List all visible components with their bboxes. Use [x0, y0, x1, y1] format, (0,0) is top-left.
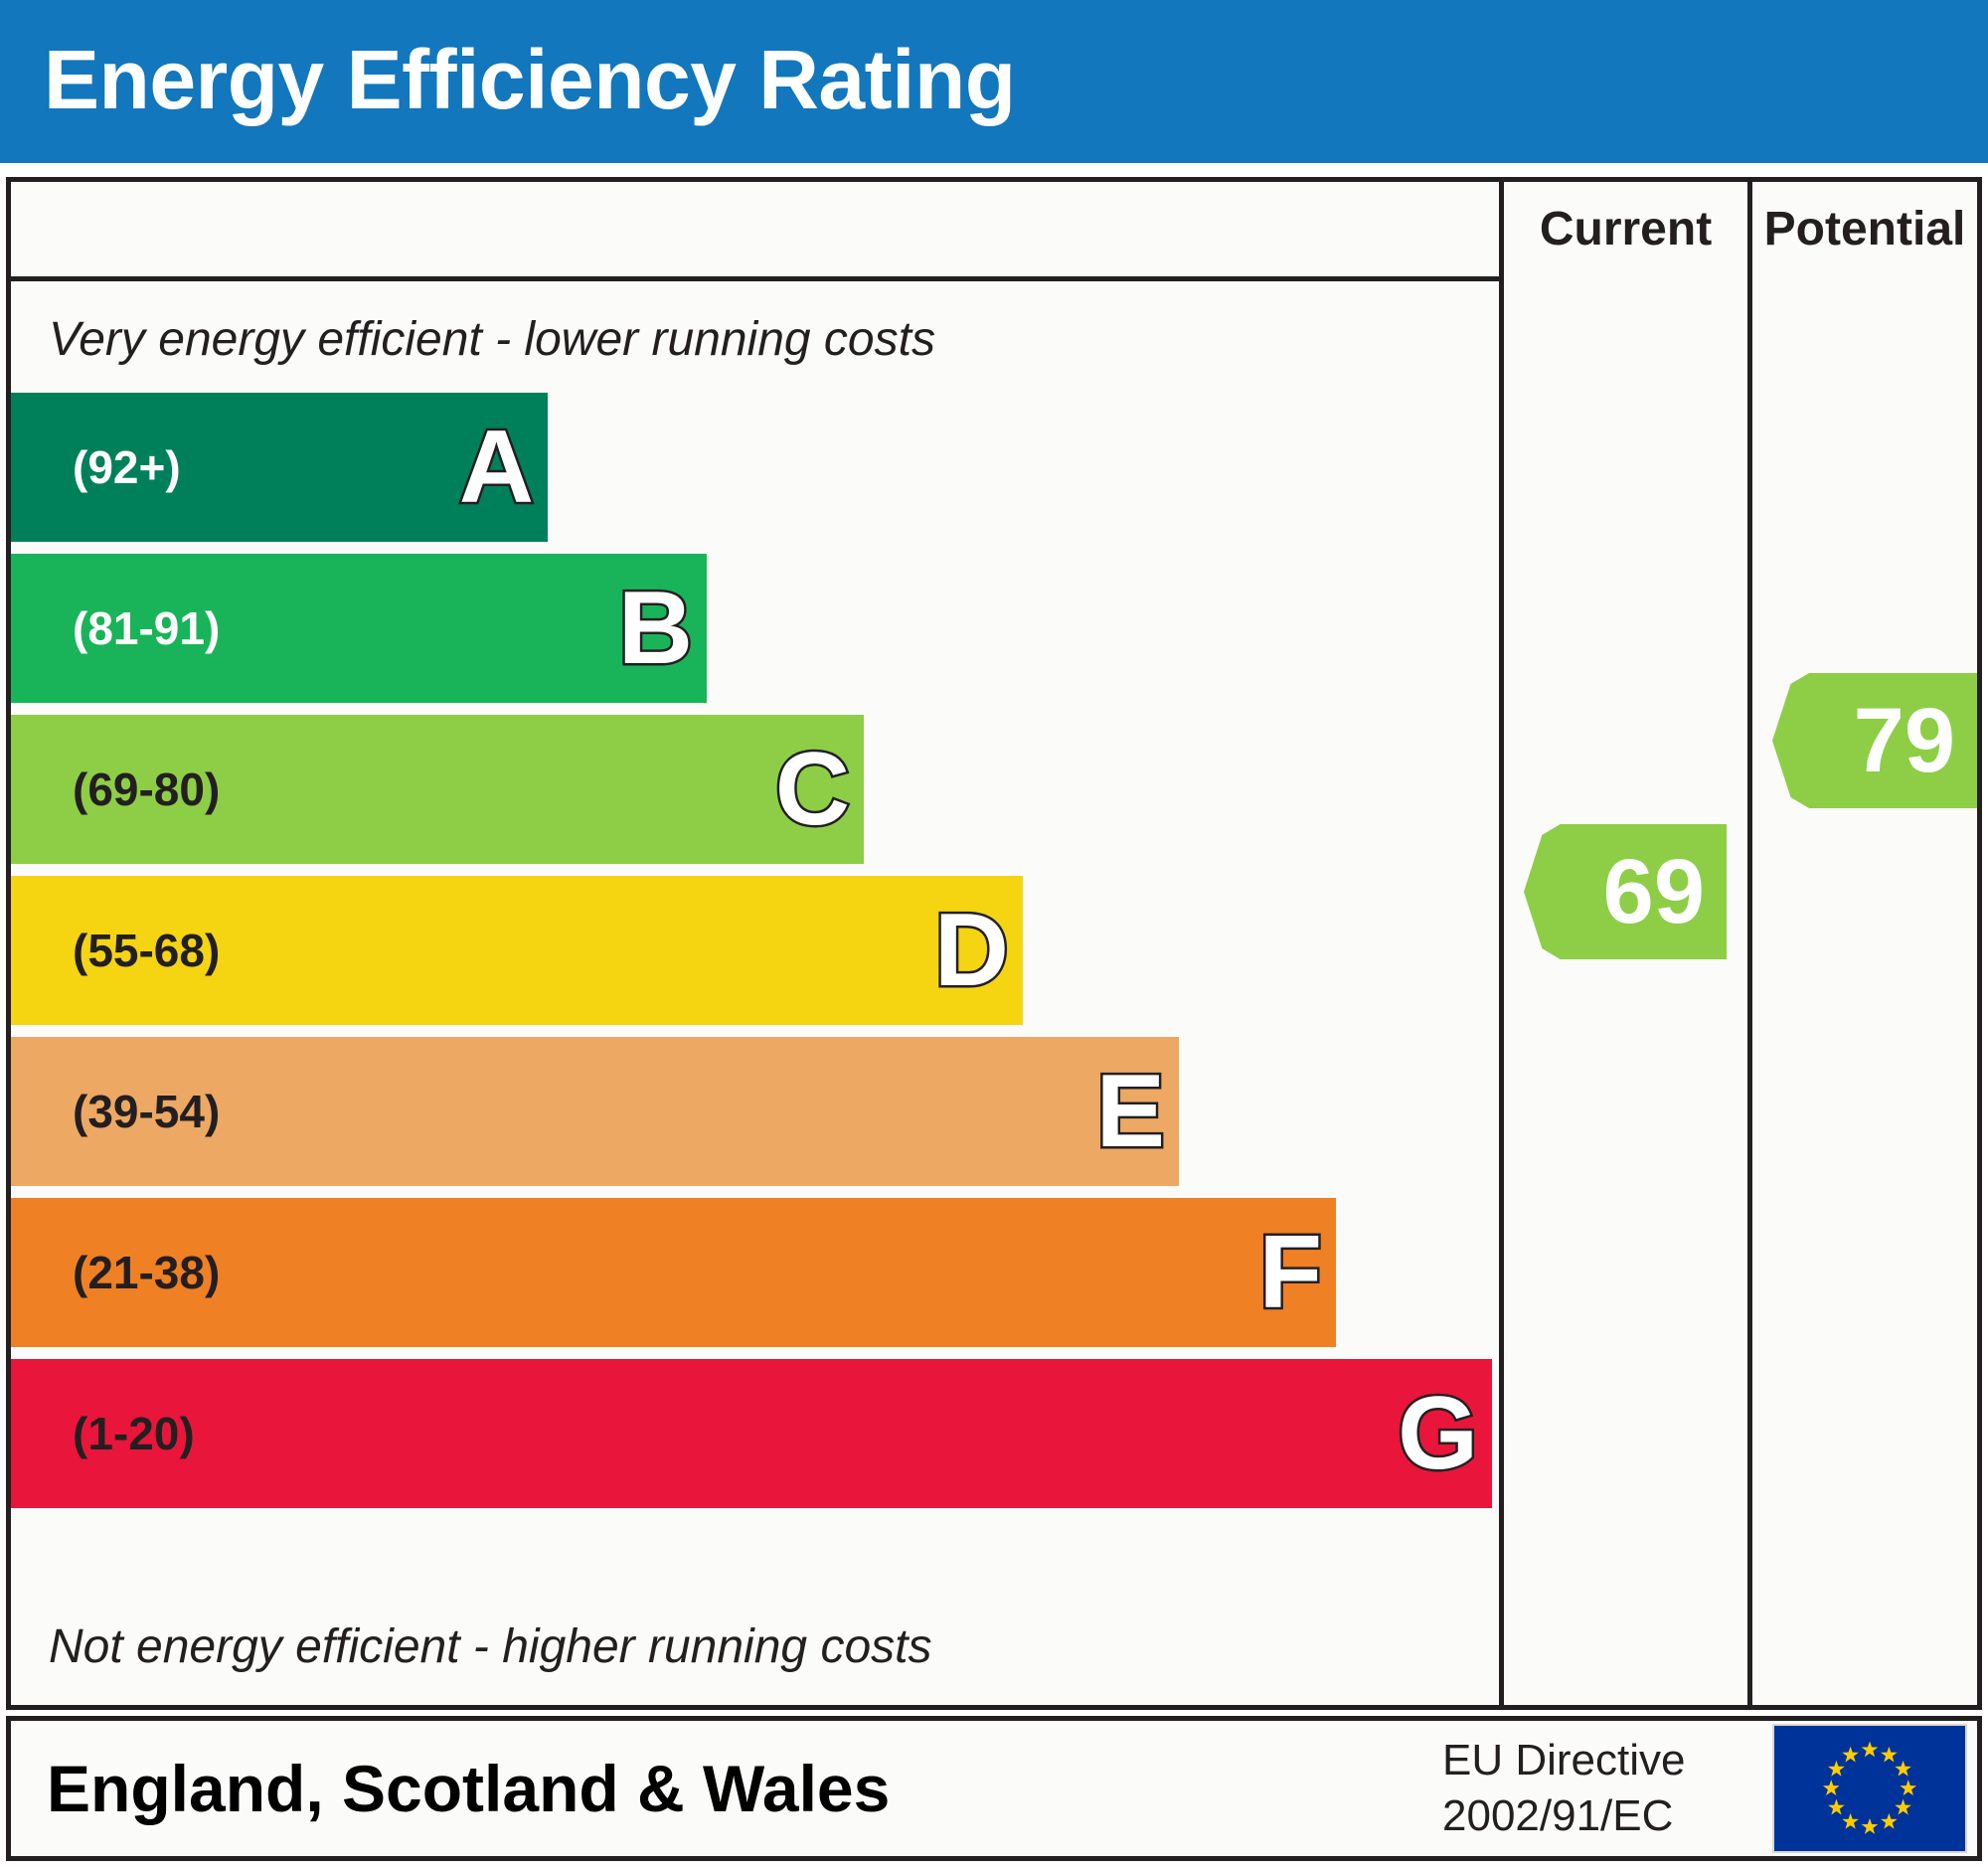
- current-score-marker-value: 69: [1603, 846, 1705, 937]
- band-a: (92+)A: [11, 393, 548, 542]
- potential-score-marker-value: 79: [1854, 695, 1955, 786]
- potential-column-divider: [1747, 182, 1752, 1705]
- band-range-label: (21-38): [73, 1246, 220, 1299]
- eu-flag-stars: [1774, 1726, 1965, 1851]
- caption-very-efficient: Very energy efficient - lower running co…: [49, 309, 935, 371]
- title-bar: Energy Efficiency Rating: [0, 0, 1988, 163]
- caption-not-efficient: Not energy efficient - higher running co…: [49, 1616, 931, 1678]
- band-letter-d: D: [934, 899, 1009, 1002]
- directive-line-1: EU Directive: [1442, 1736, 1686, 1784]
- energy-efficiency-rating-chart: Energy Efficiency Rating Current Potenti…: [0, 0, 1988, 1867]
- current-column-divider: [1499, 182, 1504, 1705]
- current-score-marker: 69: [1524, 824, 1727, 959]
- band-range-label: (39-54): [73, 1085, 220, 1138]
- page-title: Energy Efficiency Rating: [44, 28, 1016, 131]
- potential-score-marker: 79: [1772, 673, 1977, 808]
- band-letter-e: E: [1096, 1060, 1165, 1163]
- band-letter-b: B: [618, 577, 693, 680]
- band-f: (21-38)F: [11, 1198, 1336, 1347]
- band-letter-a: A: [459, 416, 534, 519]
- band-g: (1-20)G: [11, 1359, 1492, 1508]
- chart-body: Current Potential Very energy efficient …: [6, 177, 1982, 1710]
- directive-line-2: 2002/91/EC: [1442, 1791, 1673, 1840]
- band-range-label: (69-80): [73, 763, 220, 816]
- band-letter-g: G: [1398, 1382, 1478, 1485]
- eu-star: [1823, 1742, 1916, 1834]
- footer-region-label: England, Scotland & Wales: [47, 1751, 890, 1826]
- band-range-label: (1-20): [73, 1407, 195, 1460]
- band-c: (69-80)C: [11, 715, 864, 864]
- column-header-current: Current: [1504, 182, 1747, 276]
- band-e: (39-54)E: [11, 1037, 1179, 1186]
- band-range-label: (81-91): [73, 601, 220, 655]
- grade-panel: Very energy efficient - lower running co…: [11, 281, 1499, 1705]
- column-header-potential: Potential: [1752, 182, 1977, 276]
- band-range-label: (55-68): [73, 924, 220, 977]
- band-letter-c: C: [775, 738, 850, 841]
- band-letter-f: F: [1258, 1221, 1322, 1324]
- band-b: (81-91)B: [11, 554, 707, 703]
- footer-directive-label: EU Directive 2002/91/EC: [1442, 1733, 1686, 1844]
- eu-flag-icon: [1772, 1724, 1967, 1853]
- footer-bar: England, Scotland & Wales EU Directive 2…: [6, 1716, 1982, 1861]
- band-d: (55-68)D: [11, 876, 1023, 1025]
- band-range-label: (92+): [73, 440, 181, 494]
